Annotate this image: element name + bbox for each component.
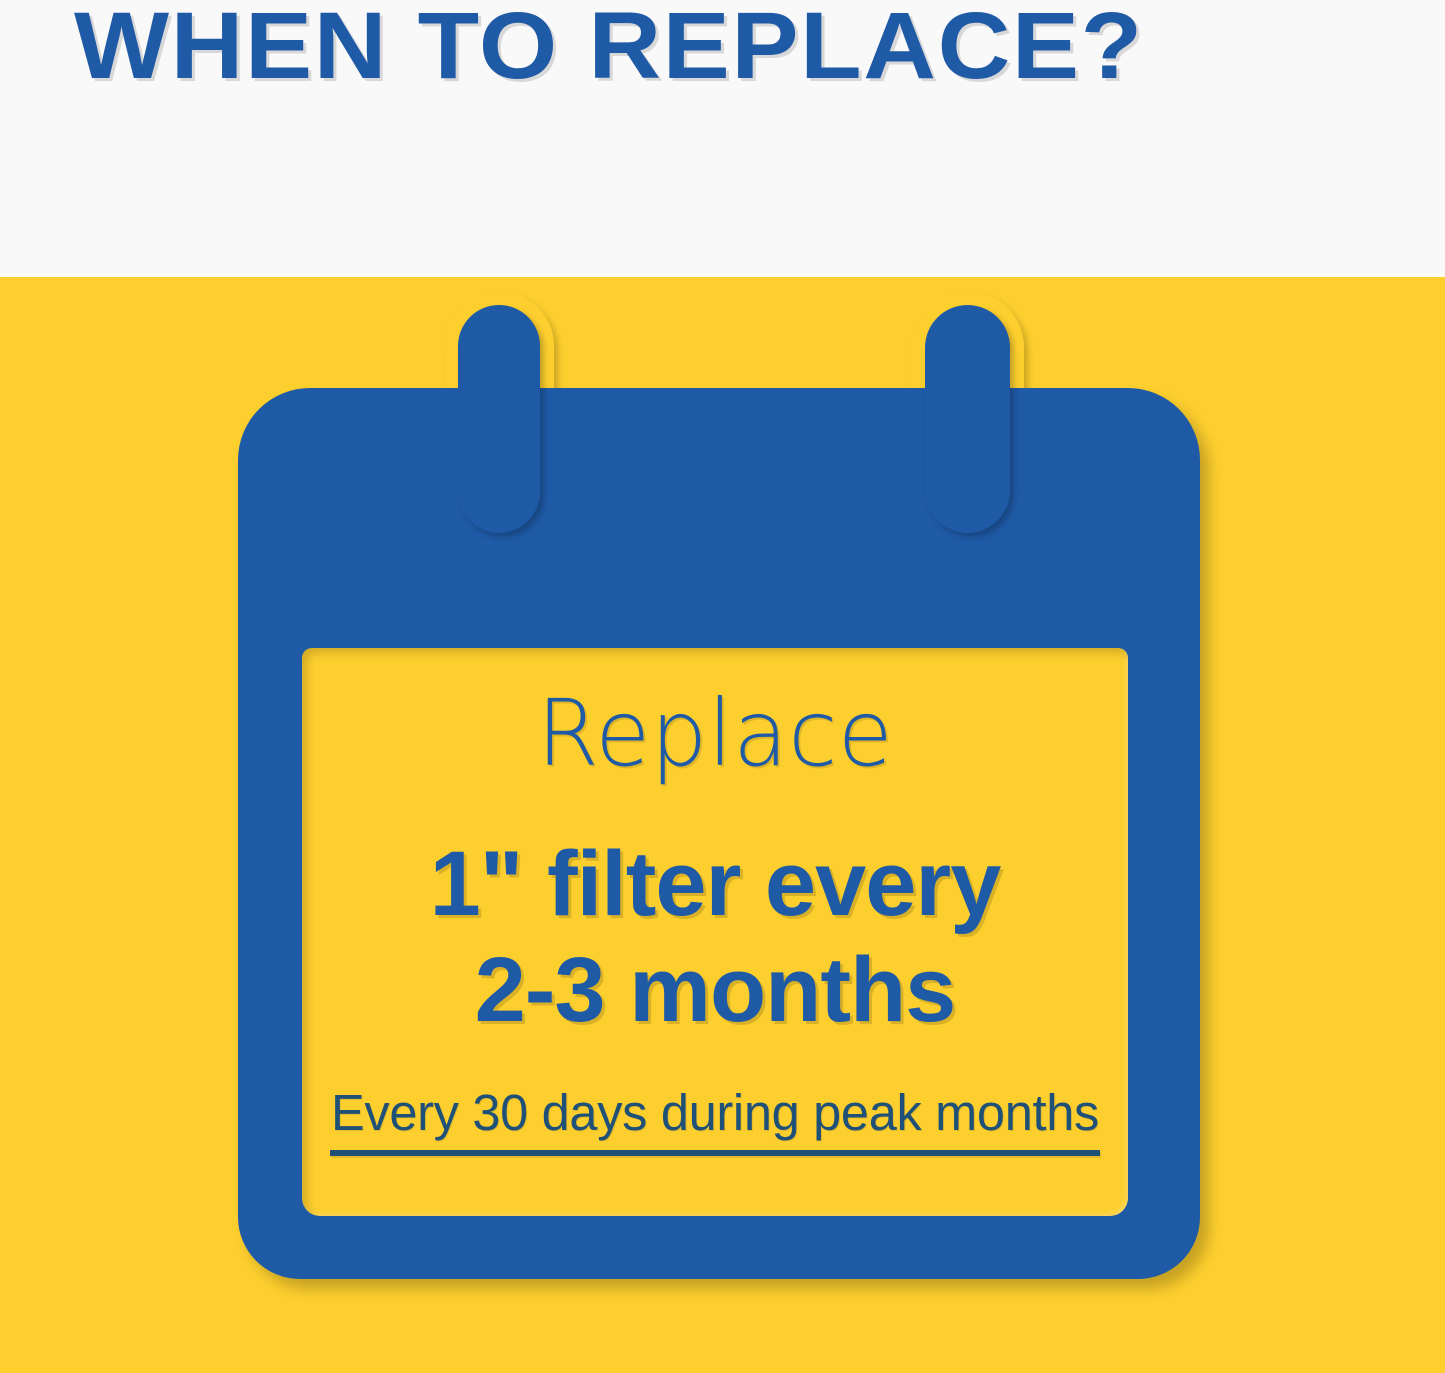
headline-line-2: 2-3 months (302, 938, 1128, 1042)
calendar-ring-left (458, 305, 540, 533)
page-title: WHEN TO REPLACE? (74, 0, 1229, 98)
header-band: WHEN TO REPLACE? (0, 0, 1445, 277)
yellow-stage: Replace 1" filter every 2-3 months Every… (0, 277, 1445, 1373)
infographic-canvas: WHEN TO REPLACE? Replace 1" filter every… (0, 0, 1445, 1373)
calendar-page: Replace 1" filter every 2-3 months Every… (302, 648, 1128, 1216)
stage-seam-highlight (0, 274, 1445, 277)
note-underline-rule (330, 1150, 1100, 1156)
calendar-ring-right (925, 305, 1010, 533)
headline-line-1: 1" filter every (302, 832, 1128, 936)
peak-months-note: Every 30 days during peak months (306, 1084, 1124, 1142)
replace-heading: Replace (314, 684, 1115, 784)
